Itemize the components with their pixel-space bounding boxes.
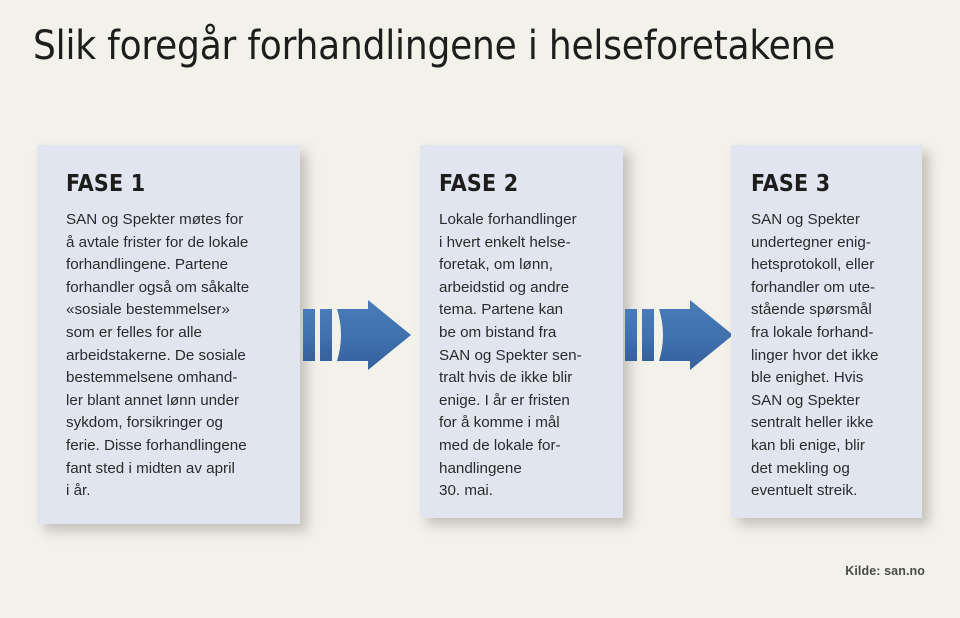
source-credit: Kilde: san.no bbox=[700, 564, 925, 578]
page-title: Slik foregår forhandlingene i helseforet… bbox=[33, 22, 933, 70]
phase-card-2-body: Lokale forhandlinger i hvert enkelt hels… bbox=[439, 209, 605, 503]
phase-card-1-body: SAN og Spekter møtes for å avtale friste… bbox=[66, 209, 276, 503]
arrow-right-icon bbox=[623, 298, 735, 372]
phase-card-2: FASE 2 Lokale forhandlinger i hvert enke… bbox=[420, 145, 623, 518]
phase-card-1: FASE 1 SAN og Spekter møtes for å avtale… bbox=[37, 145, 300, 524]
phase-card-3: FASE 3 SAN og Spekter undertegner enig- … bbox=[731, 145, 922, 518]
phase-card-3-body: SAN og Spekter undertegner enig- hetspro… bbox=[751, 209, 906, 503]
phase-card-3-heading: FASE 3 bbox=[751, 171, 906, 197]
infographic-root: Slik foregår forhandlingene i helseforet… bbox=[0, 0, 960, 618]
arrow-right-icon bbox=[301, 298, 413, 372]
phase-card-1-heading: FASE 1 bbox=[66, 171, 276, 197]
phase-card-2-heading: FASE 2 bbox=[439, 171, 605, 197]
